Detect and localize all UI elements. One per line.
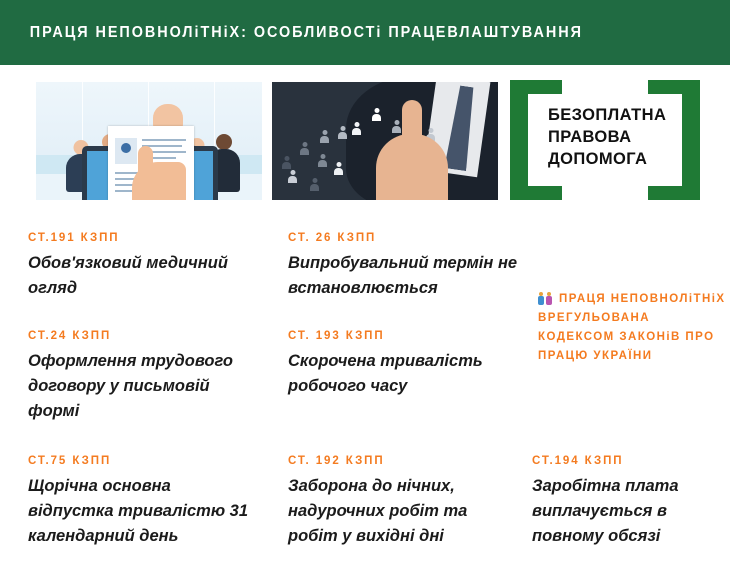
header-bar: ПРАЦЯ НЕПОВНОЛіТНіХ: ОСОБЛИВОСТі ПРАЦЕВЛ…: [0, 0, 730, 65]
fact-no-probation: СТ. 26 КЗПП Випробувальний термін не вст…: [288, 232, 538, 301]
logo-line-1: БЕЗОПЛАТНА: [548, 104, 666, 126]
fact-text: Скорочена тривалість робочого часу: [288, 349, 518, 399]
fact-annual-leave: СТ.75 КЗПП Щорічна основна відпустка три…: [28, 455, 252, 549]
highlight-text: ПРАЦЯ НЕПОВНОЛіТНіХ ВРЕГУЛЬОВАНА КОДЕКСО…: [538, 293, 726, 362]
fact-full-salary: СТ.194 КЗПП Заробітна плата виплачується…: [532, 455, 722, 549]
hand-graphic: [132, 162, 186, 200]
hr-selection-photo: [272, 82, 498, 200]
fact-text: Щорічна основна відпустка тривалістю 31 …: [28, 474, 252, 549]
highlight-text-wrapper: ПРАЦЯ НЕПОВНОЛіТНіХ ВРЕГУЛЬОВАНА КОДЕКСО…: [538, 290, 728, 366]
media-row: БЕЗОПЛАТНА ПРАВОВА ДОПОМОГА: [0, 78, 730, 200]
logo-line-3: ДОПОМОГА: [548, 148, 666, 170]
highlight-note: ПРАЦЯ НЕПОВНОЛіТНіХ ВРЕГУЛЬОВАНА КОДЕКСО…: [538, 290, 728, 366]
couple-children-icon: [538, 290, 554, 305]
fact-reference: СТ.194 КЗПП: [532, 455, 722, 467]
page-title: ПРАЦЯ НЕПОВНОЛіТНіХ: ОСОБЛИВОСТі ПРАЦЕВЛ…: [0, 24, 583, 42]
fact-reference: СТ.24 КЗПП: [28, 330, 252, 342]
fact-reference: СТ. 26 КЗПП: [288, 232, 538, 244]
fact-text: Випробувальний термін не встановлюється: [288, 251, 538, 301]
fact-reference: СТ. 193 КЗПП: [288, 330, 518, 342]
fact-written-contract: СТ.24 КЗПП Оформлення трудового договору…: [28, 330, 252, 424]
logo-line-2: ПРАВОВА: [548, 126, 666, 148]
free-legal-aid-logo: БЕЗОПЛАТНА ПРАВОВА ДОПОМОГА: [510, 80, 700, 200]
fact-reference: СТ.191 КЗПП: [28, 232, 252, 244]
fact-reduced-hours: СТ. 193 КЗПП Скорочена тривалість робочо…: [288, 330, 518, 399]
logo-text: БЕЗОПЛАТНА ПРАВОВА ДОПОМОГА: [548, 104, 666, 170]
fact-reference: СТ. 192 КЗПП: [288, 455, 504, 467]
recruitment-illustration: [36, 82, 262, 200]
fact-night-work-ban: СТ. 192 КЗПП Заборона до нічних, надуроч…: [288, 455, 504, 549]
fact-text: Заборона до нічних, надурочних робіт та …: [288, 474, 504, 549]
fact-text: Оформлення трудового договору у письмові…: [28, 349, 252, 424]
fact-reference: СТ.75 КЗПП: [28, 455, 252, 467]
fact-text: Заробітна плата виплачується в повному о…: [532, 474, 722, 549]
fact-text: Обов'язковий медичний огляд: [28, 251, 252, 301]
fact-medical-exam: СТ.191 КЗПП Обов'язковий медичний огляд: [28, 232, 252, 301]
